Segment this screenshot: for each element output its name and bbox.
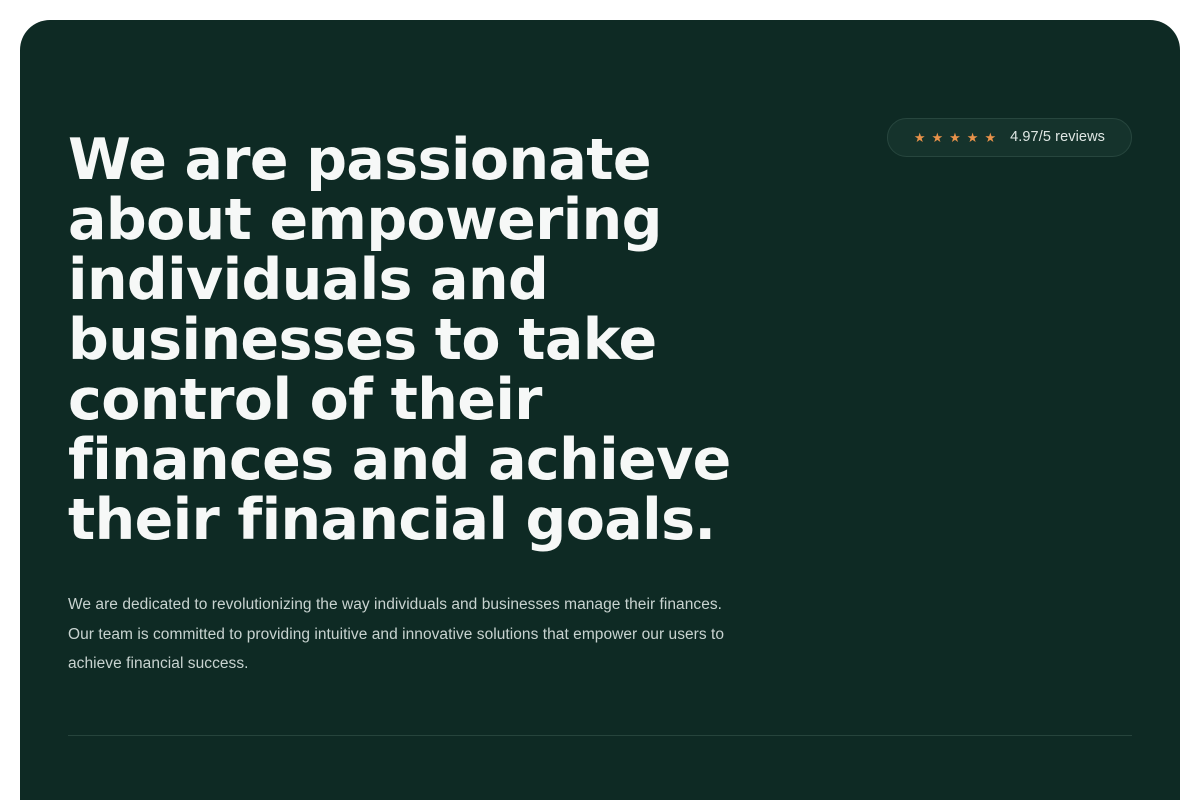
- hero-card: ★ ★ ★ ★ ★ 4.97/5 reviews We are passiona…: [20, 20, 1180, 800]
- section-divider: [68, 735, 1132, 736]
- star-icon: ★: [914, 131, 926, 144]
- hero-content-container: ★ ★ ★ ★ ★ 4.97/5 reviews We are passiona…: [68, 20, 1132, 800]
- rating-badge[interactable]: ★ ★ ★ ★ ★ 4.97/5 reviews: [887, 118, 1132, 157]
- hero-description: We are dedicated to revolutionizing the …: [68, 590, 748, 679]
- rating-label: 4.97/5 reviews: [1010, 130, 1105, 145]
- page-root: ★ ★ ★ ★ ★ 4.97/5 reviews We are passiona…: [0, 0, 1200, 800]
- star-icon: ★: [949, 131, 961, 144]
- star-icon: ★: [967, 131, 979, 144]
- page-title: We are passionate about empowering indiv…: [68, 130, 798, 550]
- star-icon: ★: [984, 131, 996, 144]
- star-icon: ★: [931, 131, 943, 144]
- rating-stars: ★ ★ ★ ★ ★: [914, 131, 996, 144]
